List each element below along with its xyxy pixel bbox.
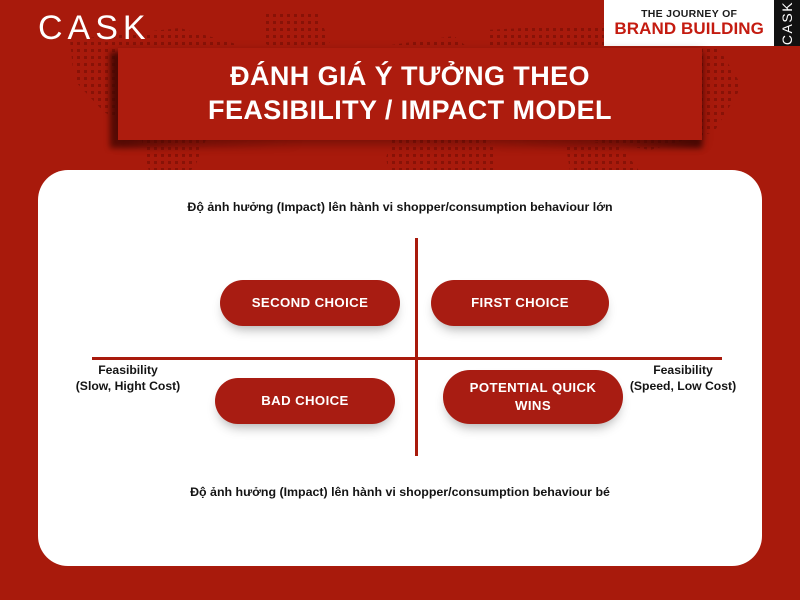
quadrant-bad-choice-label: BAD CHOICE xyxy=(247,392,363,410)
horizontal-axis-line xyxy=(92,357,722,360)
feasibility-left-label: Feasibility (Slow, Hight Cost) xyxy=(68,362,188,395)
quadrant-potential-quick-wins-label: POTENTIAL QUICK WINS xyxy=(443,379,623,415)
quadrant-first-choice-label: FIRST CHOICE xyxy=(457,294,583,312)
quadrant-bad-choice[interactable]: BAD CHOICE xyxy=(215,378,395,424)
title-banner: ĐÁNH GIÁ Ý TƯỞNG THEO FEASIBILITY / IMPA… xyxy=(118,48,702,140)
journey-badge-line1: THE JOURNEY OF xyxy=(641,9,737,20)
feasibility-right-line1: Feasibility xyxy=(618,362,748,378)
vertical-axis-line xyxy=(415,238,418,456)
quadrant-potential-quick-wins[interactable]: POTENTIAL QUICK WINS xyxy=(443,370,623,424)
cask-logo: CASK xyxy=(38,9,151,48)
slide-canvas: CASK THE JOURNEY OF BRAND BUILDING CASK … xyxy=(0,0,800,600)
matrix-card: Độ ảnh hưởng (Impact) lên hành vi shoppe… xyxy=(38,170,762,566)
quadrant-second-choice-label: SECOND CHOICE xyxy=(238,294,383,312)
feasibility-right-label: Feasibility (Speed, Low Cost) xyxy=(618,362,748,395)
feasibility-left-line1: Feasibility xyxy=(68,362,188,378)
journey-badge-line2: BRAND BUILDING xyxy=(614,20,764,38)
feasibility-right-line2: (Speed, Low Cost) xyxy=(618,378,748,394)
impact-axis-bottom-label: Độ ảnh hưởng (Impact) lên hành vi shoppe… xyxy=(38,485,762,499)
page-title-line-1: ĐÁNH GIÁ Ý TƯỞNG THEO xyxy=(230,60,590,94)
title-banner-wrapper: ĐÁNH GIÁ Ý TƯỞNG THEO FEASIBILITY / IMPA… xyxy=(110,48,702,144)
quadrant-second-choice[interactable]: SECOND CHOICE xyxy=(220,280,400,326)
quadrant-first-choice[interactable]: FIRST CHOICE xyxy=(431,280,609,326)
journey-badge-side-label: CASK xyxy=(779,1,795,45)
impact-axis-top-label: Độ ảnh hưởng (Impact) lên hành vi shoppe… xyxy=(38,200,762,214)
page-title-line-2: FEASIBILITY / IMPACT MODEL xyxy=(208,94,612,128)
feasibility-left-line2: (Slow, Hight Cost) xyxy=(68,378,188,394)
journey-of-brand-building-badge: THE JOURNEY OF BRAND BUILDING CASK xyxy=(604,0,800,46)
journey-badge-side-tab: CASK xyxy=(774,0,800,46)
journey-badge-text-block: THE JOURNEY OF BRAND BUILDING xyxy=(604,0,774,46)
